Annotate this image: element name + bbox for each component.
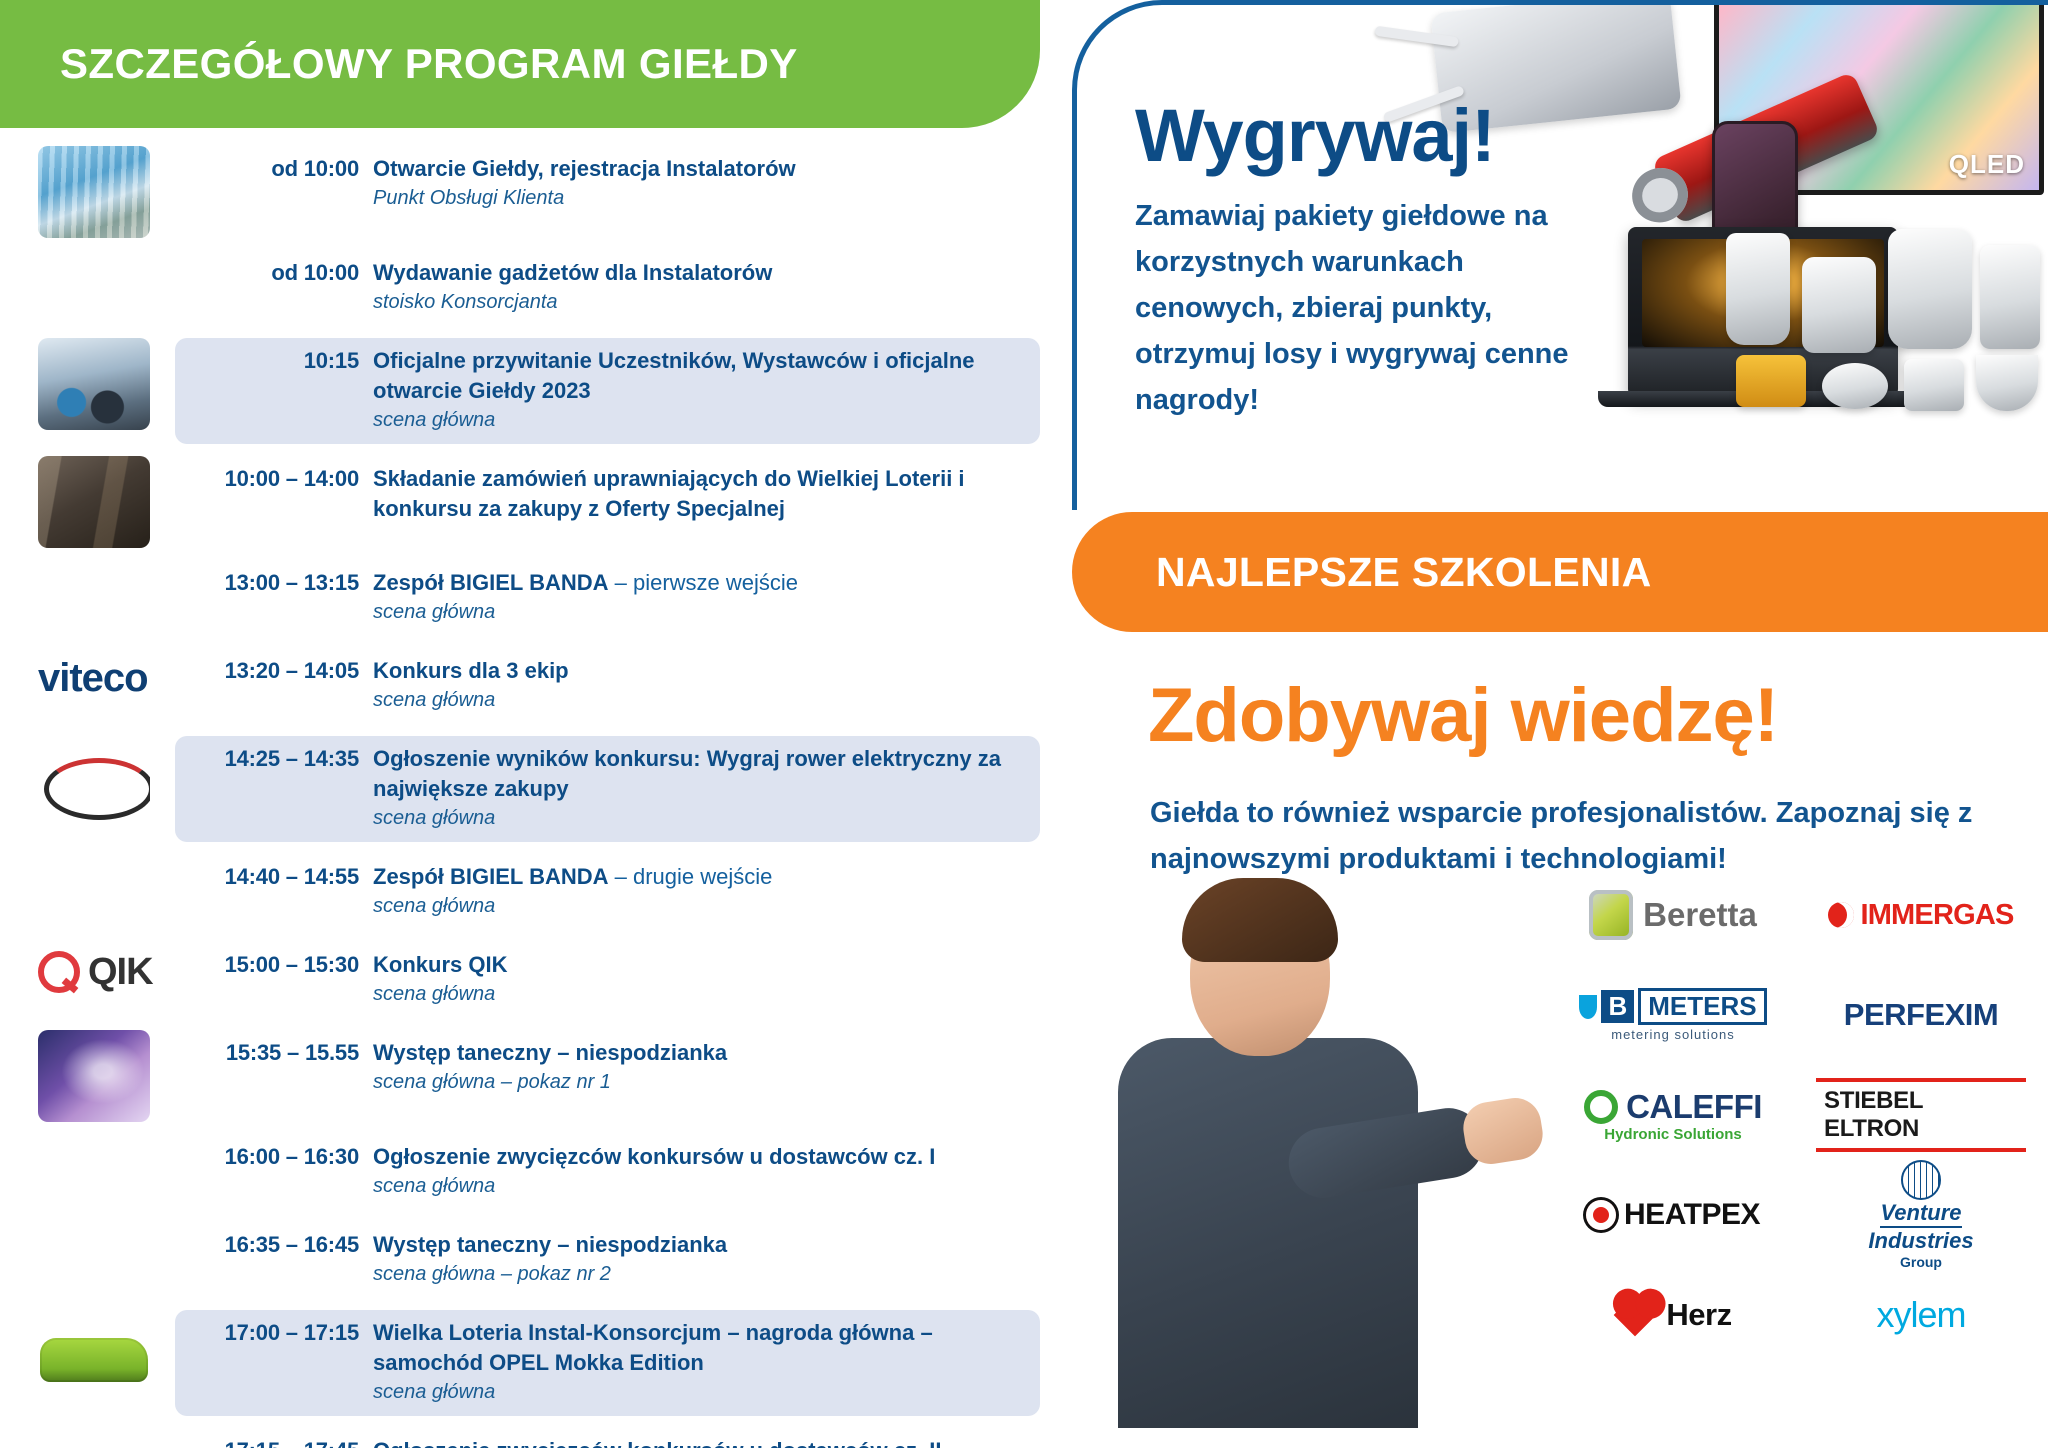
partner-logo-grid: Beretta IMMERGAS B METERS metering solut… <box>1562 880 2032 1350</box>
schedule-time: od 10:00 <box>183 258 373 288</box>
schedule-location: scena główna <box>373 1378 1026 1406</box>
program-column: SZCZEGÓŁOWY PROGRAM GIEŁDY od 10:00 Otwa… <box>0 0 1072 1448</box>
logo-herz: Herz <box>1568 1280 1778 1350</box>
bmeters-b-text: B <box>1601 990 1634 1023</box>
schedule-location: scena główna <box>373 686 1026 714</box>
schedule-row-highlighted: 14:25 – 14:35 Ogłoszenie wyników konkurs… <box>0 730 1040 848</box>
program-header-banner: SZCZEGÓŁOWY PROGRAM GIEŁDY <box>0 0 1040 128</box>
dance-photo <box>38 1030 150 1122</box>
schedule-row-highlighted: 10:15 Oficjalne przywitanie Uczestników,… <box>0 332 1040 450</box>
logo-perfexim: PERFEXIM <box>1816 980 2026 1050</box>
schedule-location: scena główna <box>373 804 1026 832</box>
schedule-location: scena główna – pokaz nr 1 <box>373 1068 1026 1096</box>
logo-venture-industries: Venture Industries Group <box>1816 1180 2026 1250</box>
row-thumbnail-slot <box>0 456 175 548</box>
schedule-time: 14:40 – 14:55 <box>183 862 373 892</box>
logo-heatpex: HEATPEX <box>1568 1180 1778 1250</box>
heart-icon <box>1614 1294 1656 1336</box>
industries-logo-text: Industries <box>1868 1228 1973 1254</box>
beretta-mark-icon <box>1589 890 1633 940</box>
schedule-title: Ogłoszenie wyników konkursu: Wygraj rowe… <box>373 744 1026 804</box>
herz-logo-text: Herz <box>1666 1297 1731 1333</box>
schedule-location: scena główna <box>373 406 1026 434</box>
win-body-text: Zamawiaj pakiety giełdowe na korzystnych… <box>1135 193 1605 423</box>
venture-group-text: Group <box>1900 1254 1942 1270</box>
schedule-row: 14:40 – 14:55 Zespół BIGIEL BANDA – drug… <box>0 848 1040 936</box>
program-header-title: SZCZEGÓŁOWY PROGRAM GIEŁDY <box>60 40 798 88</box>
schedule-row: 13:00 – 13:15 Zespół BIGIEL BANDA – pier… <box>0 554 1040 642</box>
ebike-photo <box>38 736 150 828</box>
schedule-title: Występ taneczny – niespodzianka <box>373 1038 1026 1068</box>
schedule-row-highlighted: 17:00 – 17:15 Wielka Loteria Instal-Kons… <box>0 1304 1040 1422</box>
row-thumbnail-slot <box>0 146 175 238</box>
schedule-title-suffix: – drugie wejście <box>609 864 773 889</box>
schedule-time: 10:15 <box>183 346 373 376</box>
schedule-title: Składanie zamówień uprawniających do Wie… <box>373 464 1026 524</box>
row-thumbnail-slot <box>0 338 175 430</box>
schedule-time: 16:35 – 16:45 <box>183 1230 373 1260</box>
schedule-row: od 10:00 Wydawanie gadżetów dla Instalat… <box>0 244 1040 332</box>
logo-xylem: xylem <box>1816 1280 2026 1350</box>
opel-mokka-photo <box>38 1310 150 1402</box>
schedule-row: 15:35 – 15.55 Występ taneczny – niespodz… <box>0 1024 1040 1128</box>
immergas-logo-text: IMMERGAS <box>1860 899 2013 932</box>
schedule-location: scena główna <box>373 892 1026 920</box>
schedule-time: 13:00 – 13:15 <box>183 568 373 598</box>
brochure-page: SZCZEGÓŁOWY PROGRAM GIEŁDY od 10:00 Otwa… <box>0 0 2048 1448</box>
logo-stiebel-eltron: STIEBEL ELTRON <box>1816 1080 2026 1150</box>
schedule-time: 16:00 – 16:30 <box>183 1142 373 1172</box>
band-photo <box>38 456 150 548</box>
schedule-time: 17:15 – 17:45 <box>183 1436 373 1448</box>
schedule-title: Konkurs QIK <box>373 950 1026 980</box>
schedule-title: Oficjalne przywitanie Uczestników, Wysta… <box>373 346 1026 406</box>
schedule-title: Ogłoszenie zwycięzców konkursów u dostaw… <box>373 1436 1026 1448</box>
win-panel: QLED Wygrywaj! Zamawiaj pakiety giełdowe… <box>1072 0 2048 510</box>
qled-label: QLED <box>1949 149 2025 180</box>
water-drop-icon <box>1579 995 1597 1019</box>
training-banner-title: NAJLEPSZE SZKOLENIA <box>1156 549 1651 596</box>
stiebel-eltron-logo-text: STIEBEL ELTRON <box>1824 1087 1923 1142</box>
logo-caleffi: CALEFFI Hydronic Solutions <box>1568 1080 1778 1150</box>
schedule-row: 16:35 – 16:45 Występ taneczny – niespodz… <box>0 1216 1040 1304</box>
training-banner: NAJLEPSZE SZKOLENIA <box>1072 512 2048 632</box>
heatpex-logo-text: HEATPEX <box>1624 1198 1760 1232</box>
schedule-location: scena główna <box>373 598 1026 626</box>
schedule-title: Zespół BIGIEL BANDA – drugie wejście <box>373 862 1026 892</box>
qik-mark-icon <box>38 951 80 993</box>
schedule-location: scena główna – pokaz nr 2 <box>373 1260 1026 1288</box>
schedule-time: 15:00 – 15:30 <box>183 950 373 980</box>
schedule-title: Wielka Loteria Instal-Konsorcjum – nagro… <box>373 1318 1026 1378</box>
schedule-title: Wydawanie gadżetów dla Instalatorów <box>373 258 1026 288</box>
schedule-title: Występ taneczny – niespodzianka <box>373 1230 1026 1260</box>
caleffi-logo-text: CALEFFI <box>1626 1088 1762 1126</box>
caleffi-tagline: Hydronic Solutions <box>1604 1126 1742 1143</box>
schedule-title: Ogłoszenie zwycięzców konkursów u dostaw… <box>373 1142 1026 1172</box>
perfexim-logo-text: PERFEXIM <box>1844 997 1998 1032</box>
learn-headline: Zdobywaj wiedzę! <box>1148 672 1778 759</box>
venture-logo-text: Venture <box>1880 1200 1961 1228</box>
xylem-logo-text: xylem <box>1876 1294 1965 1335</box>
schedule-title: Zespół BIGIEL BANDA – pierwsze wejście <box>373 568 1026 598</box>
promo-column: QLED Wygrywaj! Zamawiaj pakiety giełdowe… <box>1072 0 2048 1448</box>
immergas-mark-icon <box>1828 902 1854 928</box>
caleffi-mark-icon <box>1584 1090 1618 1124</box>
schedule-row: viteco 13:20 – 14:05 Konkurs dla 3 ekip … <box>0 642 1040 730</box>
schedule-row: 10:00 – 14:00 Składanie zamówień uprawni… <box>0 450 1040 554</box>
row-thumbnail-slot <box>0 736 175 828</box>
row-thumbnail-slot: viteco <box>0 648 175 708</box>
heatpex-mark-icon <box>1586 1200 1616 1230</box>
logo-immergas: IMMERGAS <box>1816 880 2026 950</box>
schedule-time: 13:20 – 14:05 <box>183 656 373 686</box>
schedule-location: stoisko Konsorcjanta <box>373 288 1026 316</box>
schedule-time: 10:00 – 14:00 <box>183 464 373 494</box>
globe-icon <box>1901 1160 1941 1200</box>
schedule-time: 15:35 – 15.55 <box>183 1038 373 1068</box>
schedule-title: Konkurs dla 3 ekip <box>373 656 1026 686</box>
row-thumbnail-slot: QIK <box>0 942 175 1002</box>
pointing-man-photo <box>1112 888 1442 1428</box>
schedule-location: scena główna <box>373 1172 1026 1200</box>
schedule-row: 16:00 – 16:30 Ogłoszenie zwycięzców konk… <box>0 1128 1040 1216</box>
schedule-time: 17:00 – 17:15 <box>183 1318 373 1348</box>
schedule-row: 17:15 – 17:45 Ogłoszenie zwycięzców konk… <box>0 1422 1040 1448</box>
viteco-logo: viteco <box>38 648 175 708</box>
logo-bmeters: B METERS metering solutions <box>1568 980 1778 1050</box>
schedule-location: scena główna <box>373 980 1026 1008</box>
bmeters-logo-text: METERS <box>1638 988 1766 1025</box>
schedule-title: Otwarcie Giełdy, rejestracja Instalatoró… <box>373 154 1026 184</box>
schedule-time: od 10:00 <box>183 154 373 184</box>
learn-body-text: Giełda to również wsparcie profesjonalis… <box>1150 790 2030 882</box>
schedule-location: Punkt Obsługi Klienta <box>373 184 1026 212</box>
row-thumbnail-slot <box>0 1030 175 1122</box>
schedule-title-suffix: – pierwsze wejście <box>609 570 799 595</box>
visitors-photo <box>38 338 150 430</box>
bmeters-tagline: metering solutions <box>1611 1027 1735 1042</box>
schedule-row: od 10:00 Otwarcie Giełdy, rejestracja In… <box>0 140 1040 244</box>
win-headline: Wygrywaj! <box>1135 93 1495 178</box>
schedule-list: od 10:00 Otwarcie Giełdy, rejestracja In… <box>0 140 1040 1448</box>
schedule-time: 14:25 – 14:35 <box>183 744 373 774</box>
schedule-row: QIK 15:00 – 15:30 Konkurs QIK scena głów… <box>0 936 1040 1024</box>
exhibition-hall-photo <box>38 146 150 238</box>
row-thumbnail-slot <box>0 1310 175 1402</box>
kitchen-appliances-image <box>1722 223 2044 413</box>
qik-logo-text: QIK <box>88 951 153 994</box>
qik-logo: QIK <box>38 942 175 1002</box>
viteco-logo-text: viteco <box>38 656 148 701</box>
logo-beretta: Beretta <box>1568 880 1778 950</box>
beretta-logo-text: Beretta <box>1643 896 1757 934</box>
